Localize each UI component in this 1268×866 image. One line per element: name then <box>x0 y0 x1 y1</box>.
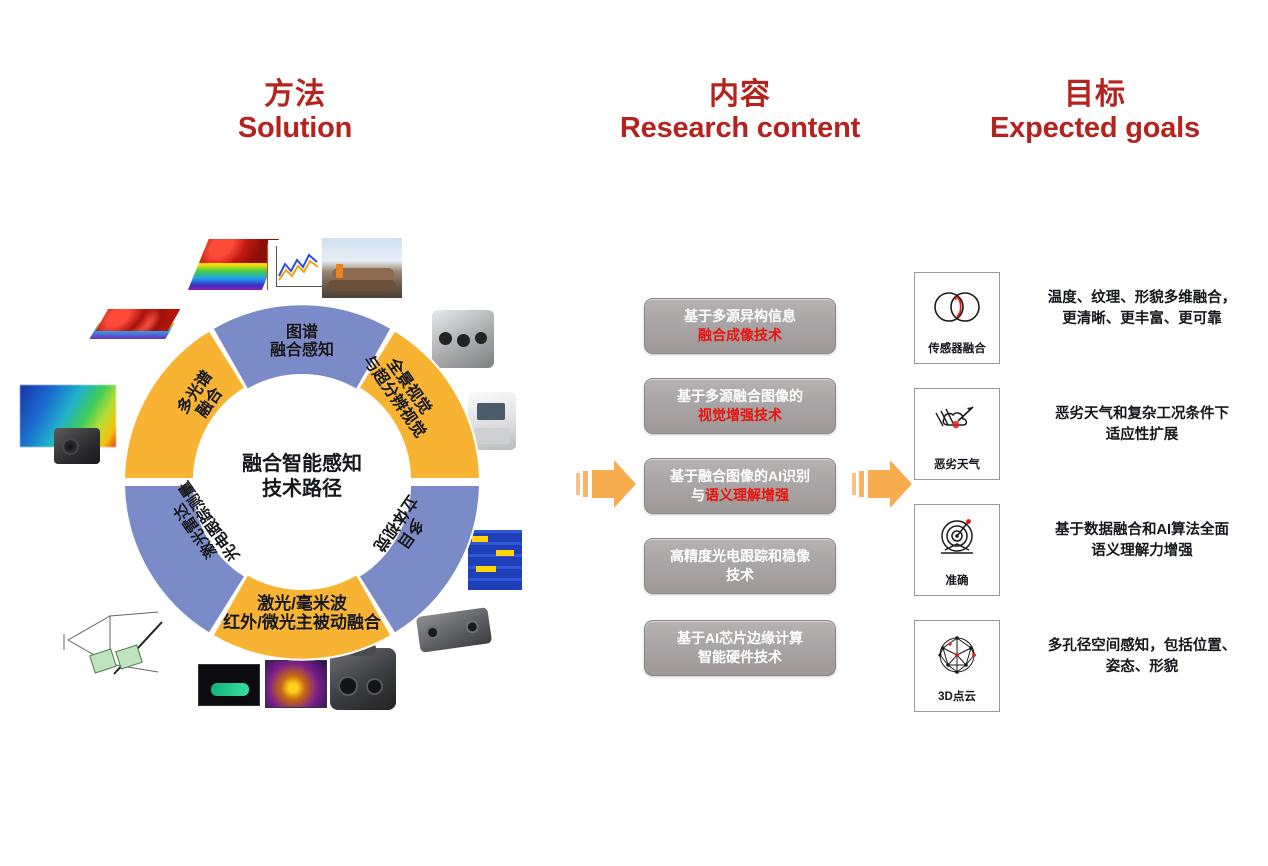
goal-text-4: 多孔径空间感知，包括位置、 姿态、形貌 <box>1022 620 1262 677</box>
research-box-4-line2: 技术 <box>726 566 754 585</box>
spectrum-plot-image <box>268 240 326 298</box>
goal-row-1: 传感器融合 温度、纹理、形貌多维融合， 更清晰、更丰富、更可靠 <box>914 272 1264 364</box>
goal-caption-3: 准确 <box>946 572 969 588</box>
goal-caption-2: 恶劣天气 <box>934 456 980 472</box>
goal-caption-4: 3D点云 <box>938 688 976 704</box>
research-box-3-line2-highlight: 语义理解增强 <box>705 487 789 503</box>
research-box-5[interactable]: 基于AI芯片边缘计算 智能硬件技术 <box>644 620 836 676</box>
research-box-3[interactable]: 基于融合图像的AI识别 与语义理解增强 <box>644 458 836 514</box>
research-box-1-line2: 融合成像技术 <box>698 326 782 345</box>
research-box-3-line2: 与语义理解增强 <box>691 486 789 505</box>
goal-row-3: 准确 基于数据融合和AI算法全面 语义理解力增强 <box>914 504 1264 596</box>
goal-card-sensor-fusion: 传感器融合 <box>914 272 1000 364</box>
research-box-5-line1: 基于AI芯片边缘计算 <box>677 629 803 648</box>
point-cloud-icon <box>915 621 999 688</box>
column-heading-solution: 方法 Solution <box>150 78 440 145</box>
goal-card-point-cloud: 3D点云 <box>914 620 1000 712</box>
diagram-canvas: 方法 Solution 内容 Research content 目标 Expec… <box>0 0 1268 866</box>
goal-text-3: 基于数据融合和AI算法全面 语义理解力增强 <box>1022 504 1262 561</box>
heading-en: Expected goals <box>930 112 1260 145</box>
goal-text-1: 温度、纹理、形貌多维融合， 更清晰、更丰富、更可靠 <box>1022 272 1262 329</box>
column-heading-research-content: 内容 Research content <box>560 78 920 145</box>
goal-row-4: 3D点云 多孔径空间感知，包括位置、 姿态、形貌 <box>914 620 1264 712</box>
hyperspectral-cube-image-top <box>190 238 276 300</box>
goal-text-2: 恶劣天气和复杂工况条件下 适应性扩展 <box>1022 388 1262 445</box>
heading-cn: 内容 <box>560 78 920 112</box>
heading-en: Solution <box>150 112 440 145</box>
heading-cn: 目标 <box>930 78 1260 112</box>
goal-caption-1: 传感器融合 <box>928 340 986 356</box>
research-box-3-line2-prefix: 与 <box>691 487 705 503</box>
research-box-5-line2: 智能硬件技术 <box>698 648 782 667</box>
goal-card-accuracy: 准确 <box>914 504 1000 596</box>
research-box-4-line1: 高精度光电跟踪和稳像 <box>670 547 810 566</box>
research-box-2-line2: 视觉增强技术 <box>698 406 782 425</box>
column-heading-expected-goals: 目标 Expected goals <box>930 78 1260 145</box>
goal-card-bad-weather: 恶劣天气 <box>914 388 1000 480</box>
research-box-1-line1: 基于多源异构信息 <box>684 307 796 326</box>
wheel-label-bottom: 激光/毫米波 红外/微光主被动融合 <box>164 594 440 632</box>
target-icon <box>915 505 999 572</box>
heading-cn: 方法 <box>150 78 440 112</box>
heading-en: Research content <box>560 112 920 145</box>
research-box-2[interactable]: 基于多源融合图像的 视觉增强技术 <box>644 378 836 434</box>
technology-roadmap-wheel: 图谱 融合感知 全景视觉 与超分辨视觉 多目 立体视觉 激光/毫米波 红外/微光… <box>122 302 482 662</box>
goal-row-2: 恶劣天气 恶劣天气和复杂工况条件下 适应性扩展 <box>914 388 1264 480</box>
research-box-4[interactable]: 高精度光电跟踪和稳像 技术 <box>644 538 836 594</box>
research-box-1[interactable]: 基于多源异构信息 融合成像技术 <box>644 298 836 354</box>
camera-module-image <box>54 428 100 464</box>
research-box-3-line1: 基于融合图像的AI识别 <box>670 467 810 486</box>
wheel-center-label: 融合智能感知 技术路径 <box>200 452 404 502</box>
arrow-content-to-goals <box>852 458 914 510</box>
sensor-fusion-icon <box>915 273 999 340</box>
research-box-2-line1: 基于多源融合图像的 <box>677 387 803 406</box>
thermal-person-image <box>265 660 327 708</box>
sonar-night-vision-image <box>198 664 260 706</box>
arrow-solution-to-content <box>576 458 638 510</box>
bad-weather-icon <box>915 389 999 456</box>
industrial-pipes-photo <box>322 238 402 298</box>
